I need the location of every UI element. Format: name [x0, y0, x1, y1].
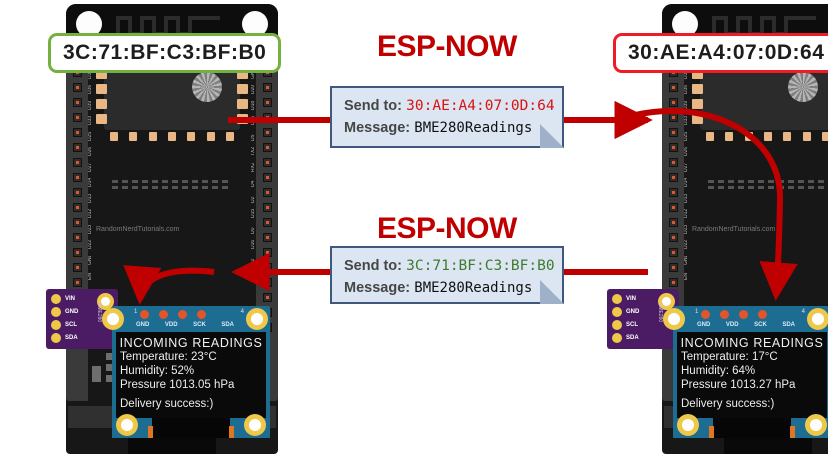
message-value: BME280Readings: [414, 120, 532, 136]
bme-pin: SDA: [612, 333, 639, 343]
screen-title: INCOMING READINGS: [677, 336, 827, 350]
oled-bottom-tab: [790, 426, 795, 438]
message-key: Message:: [344, 280, 410, 296]
pin-pad: [612, 307, 622, 317]
send-to-key: Send to:: [344, 258, 402, 274]
pin-label: VDD: [165, 322, 178, 328]
module-logo-icon: [788, 72, 818, 102]
pin-pad: [51, 307, 61, 317]
send-to-value: 3C:71:BF:C3:BF:B0: [406, 258, 554, 274]
bme-pin: VIN: [51, 294, 78, 304]
bme-pin-list: VIN GND SCL SDA: [51, 294, 78, 343]
pin-pad: [612, 333, 622, 343]
pin-label: SDA: [65, 335, 78, 341]
bme-pin: VIN: [612, 294, 639, 304]
note-fold-icon: [540, 280, 564, 304]
screen-line-temperature: Temperature: 23°C: [120, 350, 266, 364]
message-note-top: Send to: 30:AE:A4:07:0D:64 Message: BME2…: [330, 86, 564, 148]
pcb-vias: [112, 180, 232, 189]
oled-bottom-tab: [229, 426, 234, 438]
pin-label: GND: [136, 322, 149, 328]
screen-line-pressure: Pressure 1013.27 hPa: [681, 378, 827, 392]
pin-pad: [51, 333, 61, 343]
board-site-text: RandomNerdTutorials.com: [96, 226, 179, 233]
mounting-hole: [116, 414, 138, 436]
message-key: Message:: [344, 120, 410, 136]
pin-label: SCL: [626, 322, 638, 328]
mounting-hole: [102, 308, 124, 330]
pin-labels-left: VND35D36D39D33 D25D26D27D14D13 D12D23D22…: [88, 50, 93, 402]
mounting-hole: [663, 308, 685, 330]
pin-label: SDA: [782, 322, 795, 328]
oled-bottom-black: [713, 418, 791, 438]
pin-label: SCL: [65, 322, 77, 328]
message-value: BME280Readings: [414, 280, 532, 296]
screen-line-status: Delivery success:): [120, 397, 266, 411]
pin-pad: [51, 320, 61, 330]
pin-label: GND: [697, 322, 710, 328]
bme-pin: GND: [51, 307, 78, 317]
screen-line-temperature: Temperature: 17°C: [681, 350, 827, 364]
pin-pad: [612, 294, 622, 304]
pin-label: SCK: [754, 322, 767, 328]
mac-label-left: 3C:71:BF:C3:BF:B0: [48, 33, 281, 73]
bme-pin: SCL: [612, 320, 639, 330]
oled-header-labels: GND VDD SCK SDA: [697, 322, 795, 328]
pin-number-first: 1: [695, 309, 698, 315]
oled-bottom-black: [152, 418, 230, 438]
screen-line-humidity: Humidity: 52%: [120, 364, 266, 378]
bme-pin: SCL: [51, 320, 78, 330]
note-fold-icon: [540, 124, 564, 148]
oled-bottom-tab: [709, 426, 714, 438]
pin-label: VDD: [726, 322, 739, 328]
note-line-message: Message: BME280Readings: [344, 277, 552, 299]
oled-bottom-tab: [148, 426, 153, 438]
pin-label: SCK: [193, 322, 206, 328]
protocol-title-bottom: ESP-NOW: [377, 212, 517, 246]
pin-pad: [51, 294, 61, 304]
mounting-hole: [244, 414, 266, 436]
bme-pin: GND: [612, 307, 639, 317]
screen-line-humidity: Humidity: 64%: [681, 364, 827, 378]
mounting-hole: [805, 414, 827, 436]
oled-header-labels: GND VDD SCK SDA: [136, 322, 234, 328]
oled-header-numbers: 1 4: [134, 309, 244, 315]
bme-pin: SDA: [51, 333, 78, 343]
screen-title: INCOMING READINGS: [116, 336, 266, 350]
note-line-message: Message: BME280Readings: [344, 117, 552, 139]
pcb-vias: [708, 180, 828, 189]
pin-number-last: 4: [802, 309, 805, 315]
oled-display-right: 1 4 GND VDD SCK SDA INCOMING READINGS Te…: [673, 306, 828, 438]
send-to-key: Send to:: [344, 98, 402, 114]
pin-label: GND: [65, 309, 78, 315]
board-site-text: RandomNerdTutorials.com: [692, 226, 775, 233]
oled-screen-right: INCOMING READINGS Temperature: 17°C Humi…: [677, 332, 827, 420]
mounting-hole: [807, 308, 828, 330]
screen-line-status: Delivery success:): [681, 397, 827, 411]
module-pads-bottom: [706, 132, 828, 141]
pin-label: VIN: [626, 296, 636, 302]
oled-header-numbers: 1 4: [695, 309, 805, 315]
bme-pin-list: VIN GND SCL SDA: [612, 294, 639, 343]
module-logo-icon: [192, 72, 222, 102]
module-pads-bottom: [110, 132, 234, 141]
message-note-bottom: Send to: 3C:71:BF:C3:BF:B0 Message: BME2…: [330, 246, 564, 304]
pin-label: SDA: [221, 322, 234, 328]
pin-pad: [612, 320, 622, 330]
pin-label: GND: [626, 309, 639, 315]
oled-screen-left: INCOMING READINGS Temperature: 23°C Humi…: [116, 332, 266, 420]
mounting-hole: [677, 414, 699, 436]
pin-label: VIN: [65, 296, 75, 302]
pin-number-first: 1: [134, 309, 137, 315]
pin-number-last: 4: [241, 309, 244, 315]
note-line-send-to: Send to: 30:AE:A4:07:0D:64: [344, 95, 552, 117]
protocol-title-top: ESP-NOW: [377, 30, 517, 64]
mounting-hole: [246, 308, 268, 330]
pin-label: SDA: [626, 335, 639, 341]
mac-label-right: 30:AE:A4:07:0D:64: [613, 33, 828, 73]
send-to-value: 30:AE:A4:07:0D:64: [406, 98, 554, 114]
screen-line-pressure: Pressure 1013.05 hPa: [120, 378, 266, 392]
oled-display-left: 1 4 GND VDD SCK SDA INCOMING READINGS Te…: [112, 306, 270, 438]
note-line-send-to: Send to: 3C:71:BF:C3:BF:B0: [344, 255, 552, 277]
